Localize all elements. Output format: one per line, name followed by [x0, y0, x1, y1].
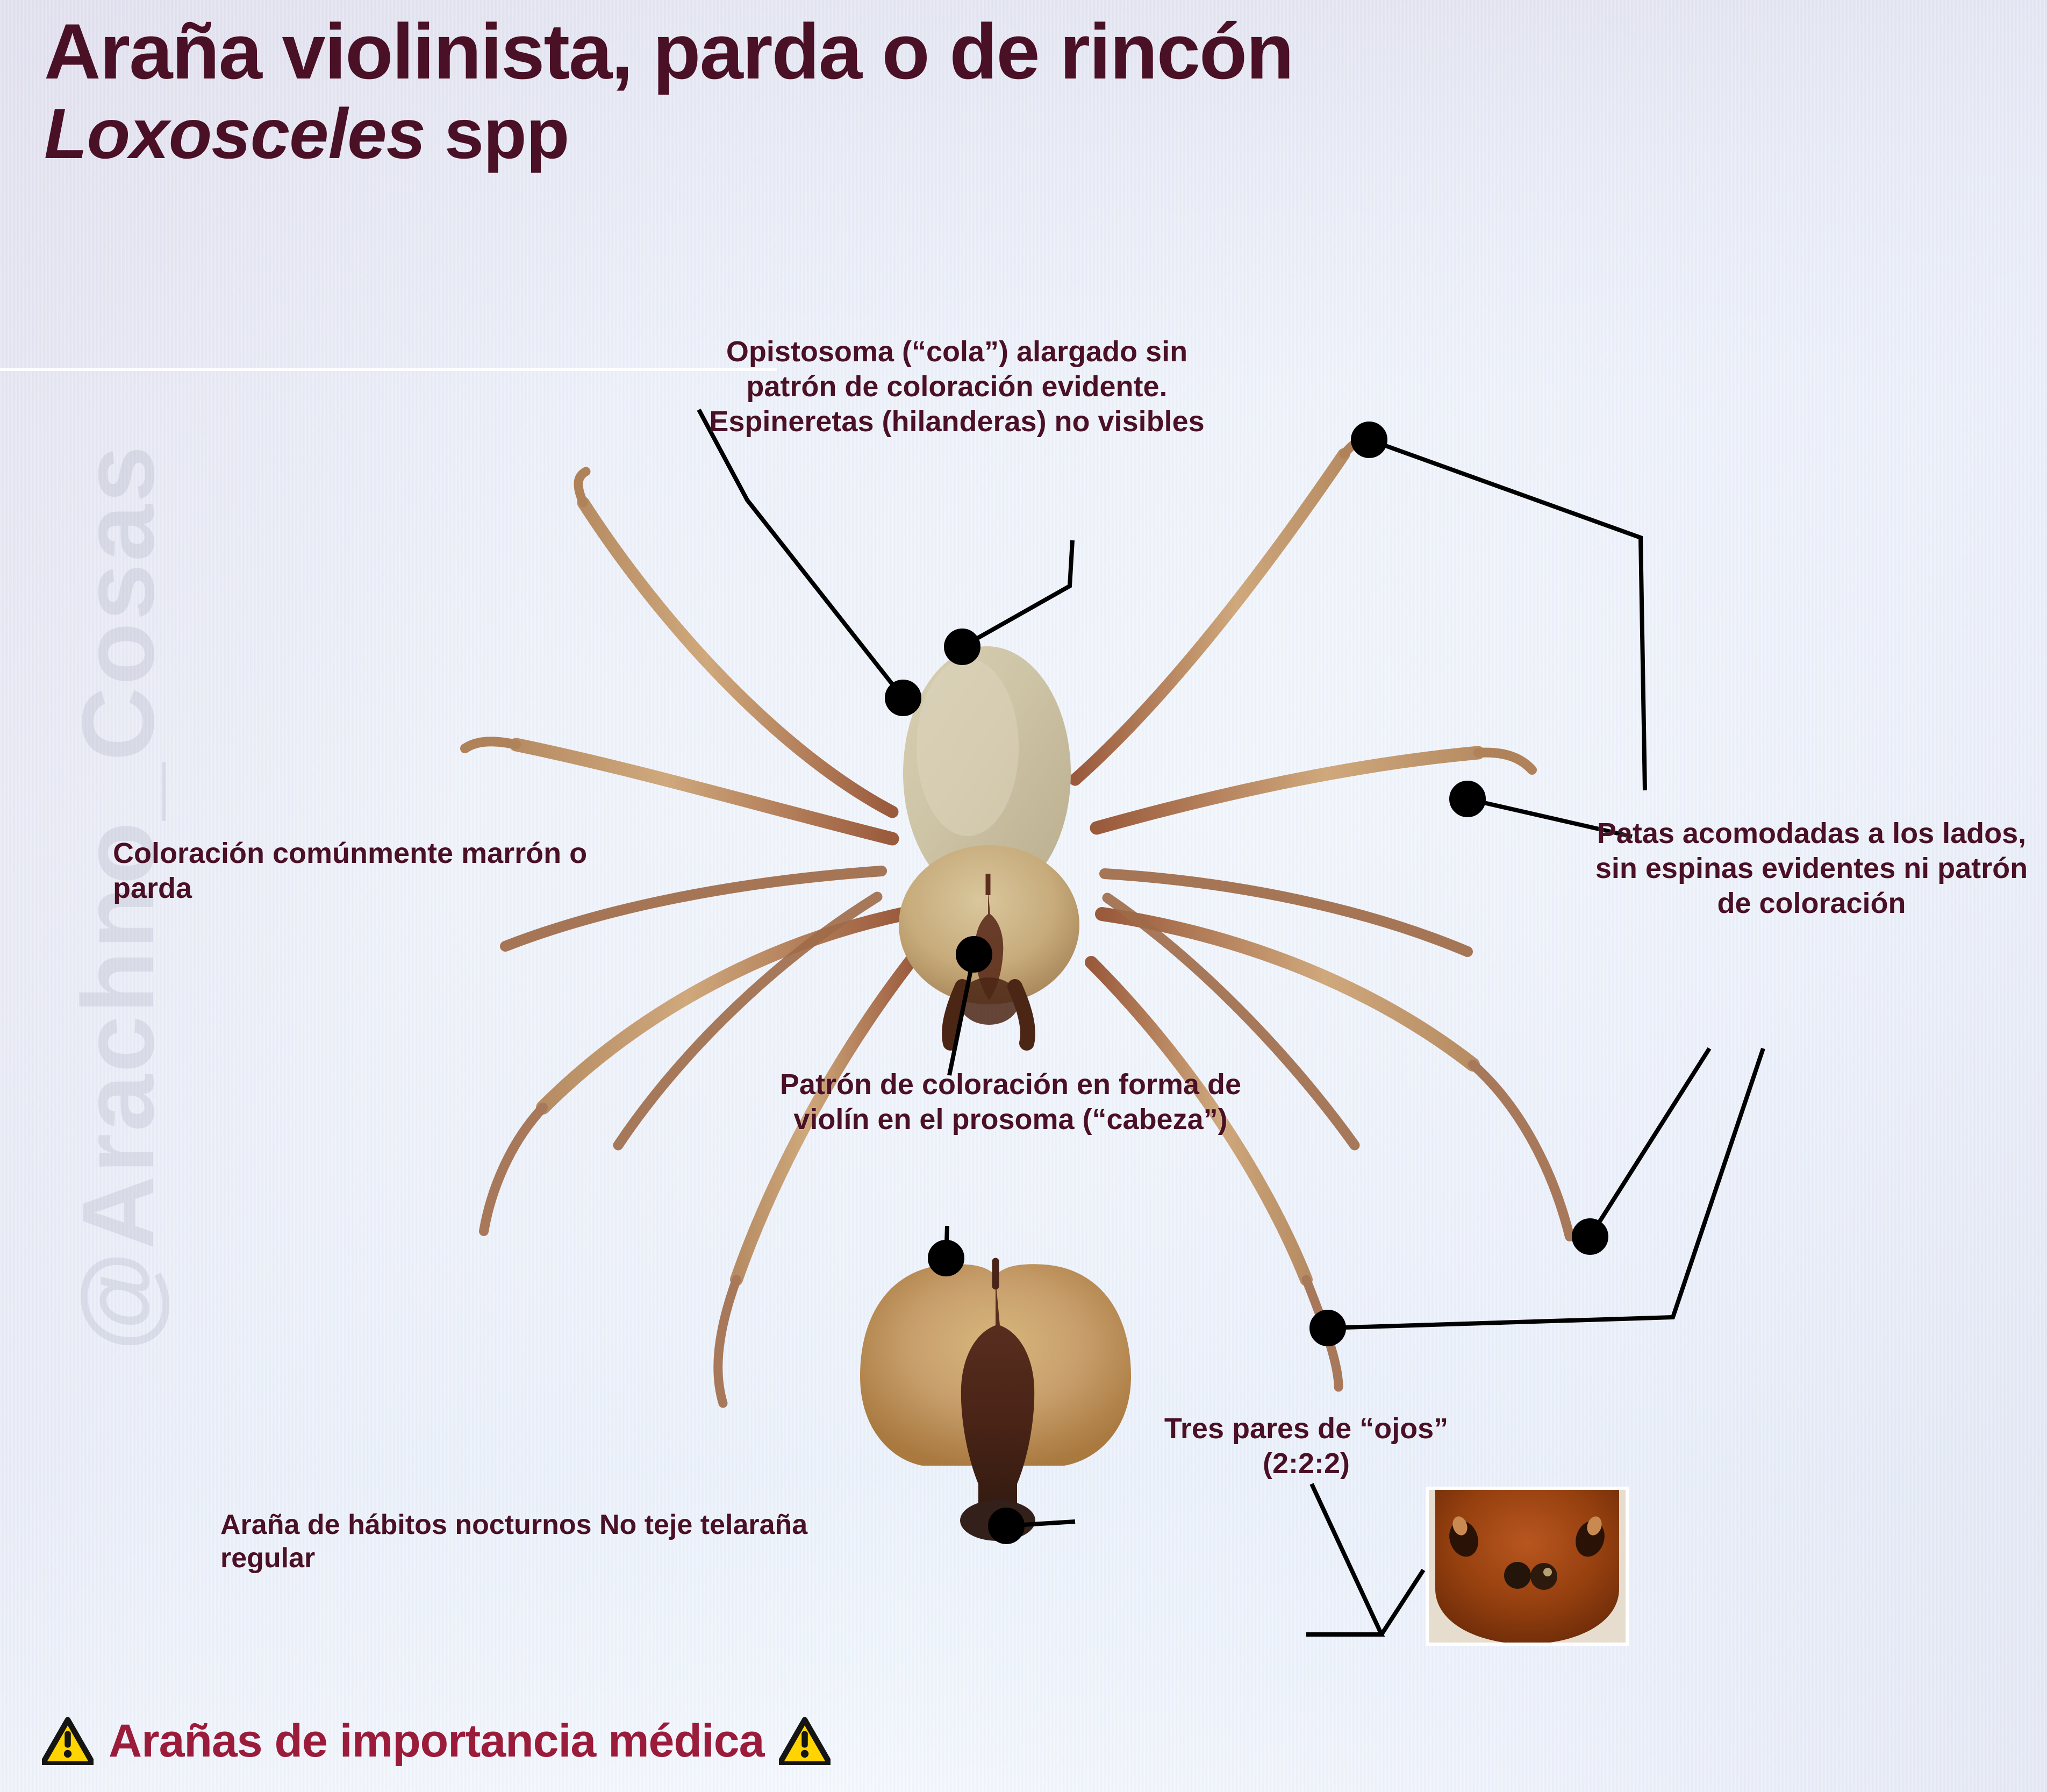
- page-title: Araña violinista, parda o de rincón Loxo…: [44, 12, 1293, 174]
- callout-violin: Patrón de coloración en forma de violín …: [763, 1067, 1258, 1137]
- medical-importance-banner: Arañas de importancia médica: [0, 1690, 2047, 1792]
- callout-opistosoma: Opistosoma (“cola”) alargado sin patrón …: [683, 334, 1231, 439]
- title-genus: Loxosceles: [44, 94, 425, 173]
- infographic-poster: @Arachno_Cosas Araña violinista, parda o…: [0, 0, 2047, 1792]
- callout-ojos: Tres pares de “ojos” (2:2:2): [1123, 1411, 1489, 1481]
- title-scientific-name: Loxosceles spp: [44, 94, 1293, 174]
- eye-arrangement-inset: [1427, 1488, 1627, 1644]
- title-common-name: Araña violinista, parda o de rincón: [44, 12, 1293, 92]
- callout-patas: Patas acomodadas a los lados, sin espina…: [1591, 816, 2032, 920]
- warning-triangle-icon: [779, 1717, 831, 1765]
- title-species-suffix: spp: [425, 94, 569, 173]
- callout-habitos: Araña de hábitos nocturnos No teje telar…: [220, 1508, 812, 1575]
- spider-body: [899, 646, 1079, 1043]
- callout-coloracion: Coloración comúnmente marrón o parda: [113, 836, 597, 906]
- banner-label: Arañas de importancia médica: [109, 1715, 764, 1768]
- warning-triangle-icon: [42, 1717, 94, 1765]
- violin-pattern-inset: [860, 1261, 1131, 1541]
